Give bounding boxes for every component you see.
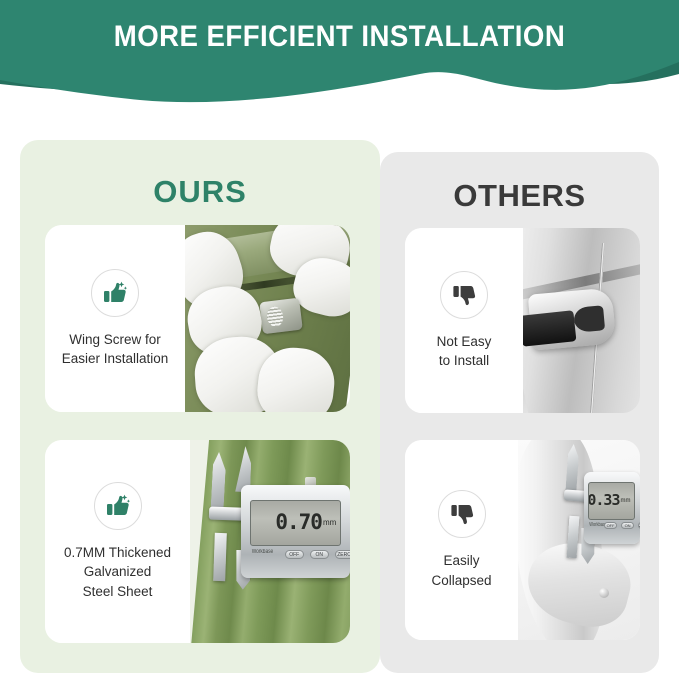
- caliper-lower-jaw: [567, 516, 580, 559]
- thumbs-up-glyph: [102, 280, 128, 306]
- header-banner: MORE EFFICIENT INSTALLATION: [0, 0, 679, 108]
- card-label: Not Easy to Install: [437, 332, 492, 370]
- caliper-buttons[interactable]: OFF ON ZERO: [604, 522, 640, 529]
- card-label: Wing Screw for Easier Installation: [62, 330, 169, 368]
- caliper-display-body: 0.70 mm Workbase OFF ON ZERO: [241, 485, 350, 578]
- card-text-block: Not Easy to Install: [405, 228, 523, 413]
- card-text-block: 0.7MM Thickened Galvanized Steel Sheet: [45, 440, 190, 643]
- card-others-not-easy-install[interactable]: Not Easy to Install: [405, 228, 640, 413]
- thumbs-down-icon: [438, 490, 486, 538]
- pliers-handle: [523, 310, 576, 347]
- caliper-button-on[interactable]: ON: [310, 550, 329, 559]
- caliper-lcd: 0.33 mm: [588, 482, 635, 519]
- caliper-brand: Workbase: [251, 549, 273, 555]
- caliper-unit: mm: [620, 498, 630, 504]
- caliper-unit: mm: [323, 518, 336, 527]
- thumbs-down-glyph: [449, 501, 475, 527]
- card-others-easily-collapsed[interactable]: Easily Collapsed 0.33 mm Workbase: [405, 440, 640, 640]
- digital-caliper: 0.33 mm Workbase OFF ON ZERO: [518, 440, 640, 640]
- thumbs-down-glyph: [451, 282, 477, 308]
- card-label: Easily Collapsed: [431, 551, 491, 589]
- photo-caliper-green-gutter: 0.70 mm Workbase OFF ON ZERO: [190, 440, 350, 643]
- photo-caliper-collapsed-gutter: 0.33 mm Workbase OFF ON ZERO: [518, 440, 640, 640]
- card-label: 0.7MM Thickened Galvanized Steel Sheet: [64, 543, 171, 600]
- panel-ours-heading: OURS: [20, 174, 380, 210]
- caliper-buttons[interactable]: OFF ON ZERO: [285, 550, 350, 559]
- pliers-jaw: [573, 305, 605, 333]
- caliper-button-off[interactable]: OFF: [604, 522, 617, 529]
- thumbs-up-icon: [94, 482, 142, 530]
- infographic-page: MORE EFFICIENT INSTALLATION OURS Wing Sc…: [0, 0, 679, 679]
- digital-caliper: 0.70 mm Workbase OFF ON ZERO: [190, 440, 350, 643]
- card-ours-wing-screw[interactable]: Wing Screw for Easier Installation: [45, 225, 350, 412]
- caliper-button-zero[interactable]: ZERO: [638, 522, 640, 529]
- banner-wave-shape: [0, 0, 679, 108]
- caliper-lcd: 0.70 mm: [250, 500, 341, 547]
- caliper-value: 0.70: [275, 512, 322, 533]
- card-text-block: Easily Collapsed: [405, 440, 518, 640]
- caliper-upper-jaw: [211, 452, 227, 513]
- card-ours-steel-thickness[interactable]: 0.7MM Thickened Galvanized Steel Sheet 0…: [45, 440, 350, 643]
- wing-screw-part: [259, 298, 302, 334]
- page-title: MORE EFFICIENT INSTALLATION: [27, 20, 652, 54]
- photo-pliers-install: [523, 228, 640, 413]
- thumbs-down-icon: [440, 271, 488, 319]
- card-text-block: Wing Screw for Easier Installation: [45, 225, 185, 412]
- caliper-button-on[interactable]: ON: [621, 522, 634, 529]
- caliper-button-zero[interactable]: ZERO: [335, 550, 350, 559]
- caliper-lower-jaw: [213, 533, 227, 581]
- caliper-display-body: 0.33 mm Workbase OFF ON ZERO: [584, 472, 640, 544]
- panel-others-heading: OTHERS: [380, 178, 659, 214]
- thumbs-up-icon: [91, 269, 139, 317]
- caliper-upper-jaw: [565, 444, 579, 493]
- photo-wing-screw-install: [185, 225, 350, 412]
- caliper-button-off[interactable]: OFF: [285, 550, 304, 559]
- thumbs-up-glyph: [105, 493, 131, 519]
- caliper-value: 0.33: [588, 493, 619, 508]
